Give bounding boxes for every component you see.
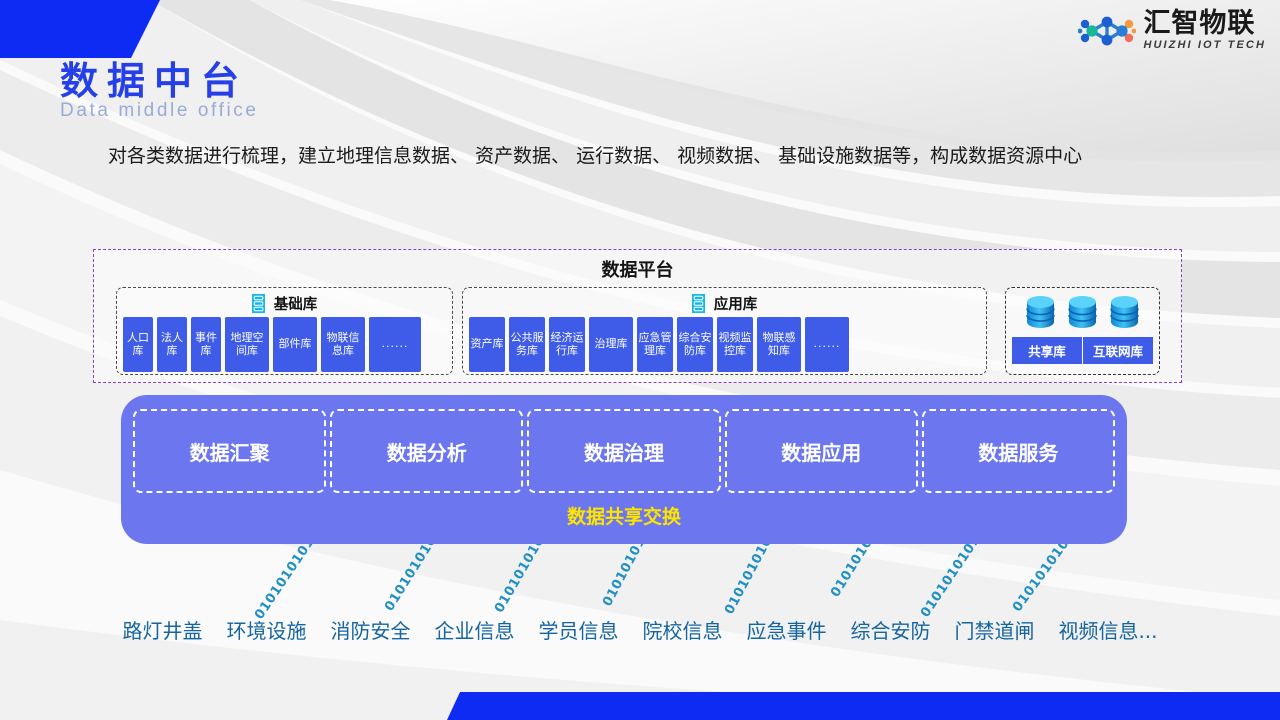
database-cylinder-icon — [1067, 295, 1098, 329]
base-library-header: 基础库 — [117, 290, 452, 316]
database-tab-internet[interactable]: 互联网库 — [1082, 337, 1153, 364]
app-library-chip[interactable]: 治理库 — [589, 317, 633, 372]
app-library-chip[interactable]: 视频监控库 — [717, 317, 753, 372]
shared-database-group: 共享库 互联网库 — [1005, 287, 1160, 375]
data-source-tag[interactable]: 消防安全 — [330, 615, 410, 644]
base-library-chip[interactable]: 部件库 — [273, 317, 317, 372]
base-library-chip-more[interactable]: ...... — [369, 317, 421, 372]
data-platform-title: 数据平台 — [94, 256, 1181, 282]
database-stack-icon — [692, 294, 705, 313]
app-library-chip-row: 资产库 公共服务库 经济运行库 治理库 应急管理库 综合安防库 视频监控库 物联… — [463, 317, 986, 372]
bottom-accent-bar — [447, 692, 1280, 720]
base-library-group: 基础库 人口库 法人库 事件库 地理空间库 部件库 物联信息库 ...... — [116, 287, 453, 375]
data-source-tag[interactable]: 视频信息... — [1058, 615, 1157, 644]
app-library-label: 应用库 — [714, 293, 758, 314]
database-tab-row: 共享库 互联网库 — [1012, 337, 1153, 364]
base-library-label: 基础库 — [274, 293, 318, 314]
capability-cell-aggregation[interactable]: 数据汇聚 — [133, 409, 326, 493]
data-source-tag[interactable]: 综合安防 — [850, 615, 930, 644]
page-title: 数据中台 — [60, 62, 259, 102]
database-cylinder-icon — [1109, 295, 1140, 329]
app-library-chip[interactable]: 物联感知库 — [757, 317, 801, 372]
data-source-tag[interactable]: 应急事件 — [746, 615, 826, 644]
base-library-chip[interactable]: 物联信息库 — [321, 317, 365, 372]
app-library-group: 应用库 资产库 公共服务库 经济运行库 治理库 应急管理库 综合安防库 视频监控… — [462, 287, 987, 375]
page-title-block: 数据中台 Data middle office — [60, 62, 259, 122]
capability-cell-analysis[interactable]: 数据分析 — [330, 409, 523, 493]
data-source-tag[interactable]: 院校信息 — [642, 615, 722, 644]
app-library-chip[interactable]: 资产库 — [469, 317, 505, 372]
data-source-tag[interactable]: 学员信息 — [538, 615, 618, 644]
data-source-tag[interactable]: 环境设施 — [226, 615, 306, 644]
base-library-chip[interactable]: 事件库 — [191, 317, 221, 372]
page-description: 对各类数据进行梳理，建立地理信息数据、 资产数据、 运行数据、 视频数据、 基础… — [108, 138, 1178, 175]
base-library-chip-row: 人口库 法人库 事件库 地理空间库 部件库 物联信息库 ...... — [117, 317, 452, 372]
slide-canvas: 汇智物联 HUIZHI IOT TECH 数据中台 Data middle of… — [0, 0, 1280, 720]
data-source-tag[interactable]: 企业信息 — [434, 615, 514, 644]
database-tab-shared[interactable]: 共享库 — [1012, 337, 1082, 364]
app-library-chip[interactable]: 应急管理库 — [637, 317, 673, 372]
data-source-tag[interactable]: 门禁道闸 — [954, 615, 1034, 644]
capability-cell-row: 数据汇聚 数据分析 数据治理 数据应用 数据服务 — [121, 395, 1127, 493]
database-stack-icon — [252, 294, 265, 313]
data-source-tag-row: 路灯井盖 环境设施 消防安全 企业信息 学员信息 院校信息 应急事件 综合安防 … — [0, 615, 1280, 644]
logo-title-en: HUIZHI IOT TECH — [1143, 40, 1266, 51]
logo-title-cn: 汇智物联 — [1143, 10, 1255, 37]
app-library-chip[interactable]: 经济运行库 — [549, 317, 585, 372]
molecule-network-icon — [1078, 11, 1136, 51]
capability-cell-application[interactable]: 数据应用 — [725, 409, 918, 493]
capsule-footer-label: 数据共享交换 — [121, 502, 1127, 529]
data-platform-panel: 数据平台 基础库 人口库 法人库 事件库 地理空间库 部件库 物联信息库 ...… — [93, 249, 1182, 383]
app-library-header: 应用库 — [463, 290, 986, 316]
brand-logo: 汇智物联 HUIZHI IOT TECH — [1078, 10, 1266, 51]
base-library-chip[interactable]: 地理空间库 — [225, 317, 269, 372]
app-library-chip-more[interactable]: ...... — [805, 317, 849, 372]
capability-cell-service[interactable]: 数据服务 — [922, 409, 1115, 493]
base-library-chip[interactable]: 法人库 — [157, 317, 187, 372]
database-cylinder-icon — [1025, 295, 1056, 329]
data-capability-capsule: 数据汇聚 数据分析 数据治理 数据应用 数据服务 数据共享交换 — [121, 395, 1127, 544]
app-library-chip[interactable]: 公共服务库 — [509, 317, 545, 372]
capability-cell-governance[interactable]: 数据治理 — [527, 409, 720, 493]
page-subtitle: Data middle office — [60, 100, 259, 122]
app-library-chip[interactable]: 综合安防库 — [677, 317, 713, 372]
data-source-tag[interactable]: 路灯井盖 — [122, 615, 202, 644]
database-cylinder-row — [1006, 288, 1159, 336]
base-library-chip[interactable]: 人口库 — [123, 317, 153, 372]
